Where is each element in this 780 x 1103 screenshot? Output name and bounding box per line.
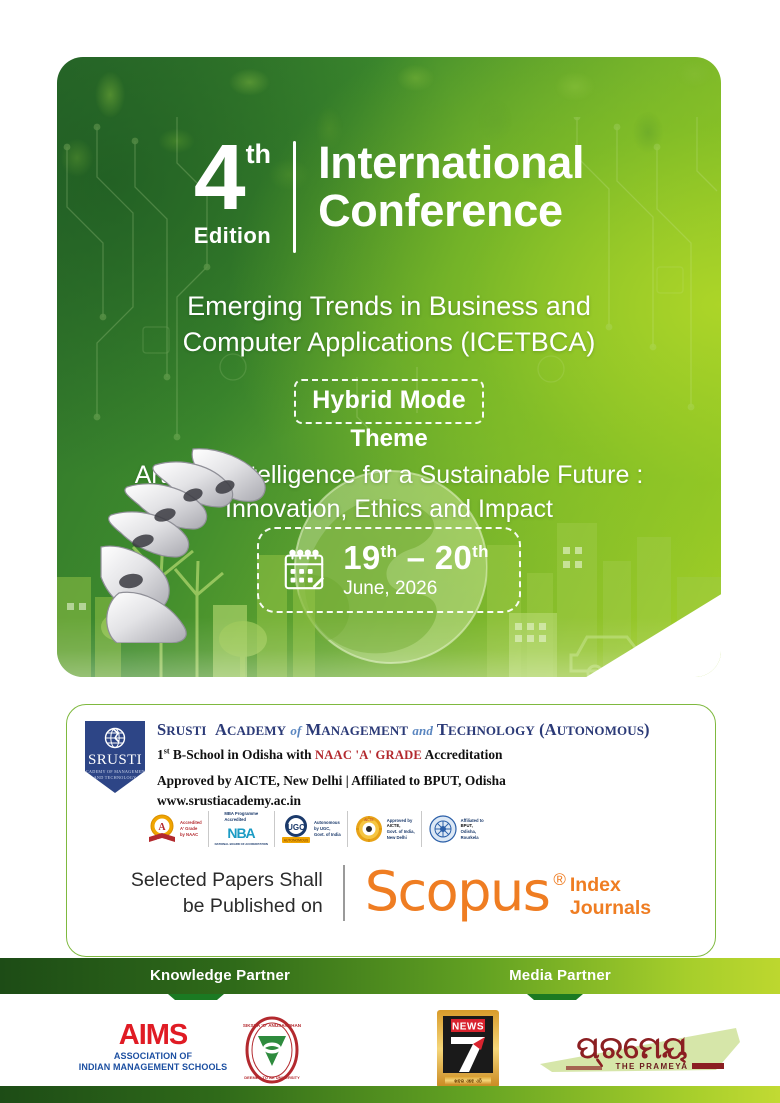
- prameya-logo-icon: ପ୍ରମେୟ THE PRAMEYA: [540, 1022, 740, 1078]
- srusti-crest-logo-icon: SRUSTI ACADEMY OF MANAGEMENT AND TECHNOL…: [85, 721, 145, 793]
- inst-s3: M: [306, 720, 322, 739]
- acc4-l3: Govt. of India,: [387, 829, 415, 835]
- svg-text:AUTONOMOUS: AUTONOMOUS: [284, 839, 309, 843]
- institution-text: SRUSTI ACADEMY of MANAGEMENT and TECHNOL…: [157, 721, 650, 809]
- inst-s4: T: [437, 720, 448, 739]
- acc5-l4: Rourkela: [461, 835, 484, 841]
- scopus-index-line-2: Journals: [570, 897, 651, 920]
- inst-and: and: [412, 723, 433, 738]
- accreditation-badges: A NAAC Accredited A' Grade by NAAC MBA P…: [141, 811, 490, 847]
- scopus-logo: Scopus ® Index Journals: [365, 866, 651, 920]
- aims-wordmark: AIMS: [78, 1022, 228, 1048]
- hero-banner: 4 th Edition International Conference Em…: [57, 57, 721, 677]
- svg-text:UGC: UGC: [287, 823, 305, 832]
- svg-text:THE PRAMEYA: THE PRAMEYA: [616, 1062, 689, 1071]
- inst-s3b: ANAGEMENT: [321, 723, 408, 738]
- knowledge-partner-label: Knowledge Partner: [60, 967, 380, 984]
- svg-text:A: A: [158, 822, 166, 833]
- subtitle-line-1: Emerging Trends in Business and: [57, 289, 721, 325]
- accreditation-caption: Approved by AICTE, Govt. of India, New D…: [387, 818, 415, 841]
- date-day-from: 19: [343, 539, 380, 576]
- institution-name: SRUSTI ACADEMY of MANAGEMENT and TECHNOL…: [157, 721, 650, 739]
- acc4-l4: New Delhi: [387, 835, 415, 841]
- scopus-row: Selected Papers Shall be Published on Sc…: [67, 865, 715, 921]
- mode-badge-wrap: Hybrid Mode: [57, 379, 721, 424]
- accreditation-caption: Autonomous by UGC, Govt. of India: [314, 820, 341, 837]
- edition-word: Edition: [194, 225, 271, 247]
- date-badge: 19th – 20th June, 2026: [257, 527, 521, 613]
- accreditation-item: Affiliated to BPUT, Odisha, Rourkela: [422, 811, 490, 847]
- scopus-caption-line-2: be Published on: [131, 893, 323, 919]
- bschool-rank: 1: [157, 747, 164, 762]
- registered-mark-icon: ®: [553, 870, 566, 890]
- inst-s1: S: [157, 720, 166, 739]
- scopus-caption: Selected Papers Shall be Published on: [131, 867, 323, 920]
- headline-divider: [293, 141, 296, 253]
- partner-band: Knowledge Partner Media Partner: [0, 958, 780, 994]
- institution-row: SRUSTI ACADEMY OF MANAGEMENT AND TECHNOL…: [85, 721, 650, 809]
- ugc-seal-icon: UGC AUTONOMOUS: [281, 813, 311, 845]
- accreditation-line: 1st B-School in Odisha with NAAC 'A' GRA…: [157, 745, 650, 764]
- svg-text:ଖବର ଏବେ ଏଠି: ଖବର ଏବେ ଏଠି: [454, 1079, 482, 1084]
- institution-card: SRUSTI ACADEMY OF MANAGEMENT AND TECHNOL…: [66, 704, 716, 957]
- aims-sub-1: ASSOCIATION OF: [78, 1051, 228, 1062]
- accreditation-item: UGC AUTONOMOUS Autonomous by UGC, Govt. …: [275, 811, 348, 847]
- svg-text:NEWS: NEWS: [452, 1022, 484, 1033]
- scopus-index-journals: Index Journals: [570, 874, 651, 920]
- svg-text:ACADEMY OF MANAGEMENT: ACADEMY OF MANAGEMENT: [85, 769, 145, 774]
- acc-l3: by NAAC: [180, 832, 202, 838]
- aims-logo: AIMS ASSOCIATION OF INDIAN MANAGEMENT SC…: [78, 1022, 228, 1074]
- inst-s2: A: [215, 720, 227, 739]
- approval-line: Approved by AICTE, New Delhi | Affiliate…: [157, 771, 650, 790]
- bottom-accent-strip: [0, 1086, 780, 1103]
- date-sup-from: th: [381, 542, 398, 561]
- date-day-to: 20: [435, 539, 472, 576]
- scopus-wordmark: Scopus: [365, 866, 550, 917]
- svg-text:DEEMED TO BE UNIVERSITY: DEEMED TO BE UNIVERSITY: [244, 1075, 300, 1080]
- date-dash: –: [407, 539, 426, 576]
- subtitle-line-2: Computer Applications (ICETBCA): [57, 325, 721, 361]
- scopus-divider: [343, 865, 345, 921]
- svg-text:SIKSHA 'O' ANUSANDHAN: SIKSHA 'O' ANUSANDHAN: [243, 1023, 302, 1028]
- date-range: 19th – 20th: [343, 541, 489, 576]
- accreditation-item: AICTE Approved by AICTE, Govt. of India,…: [348, 811, 422, 847]
- aicte-seal-icon: AICTE: [354, 813, 384, 845]
- acc3-l3: Govt. of India: [314, 832, 341, 838]
- accreditation-item: A NAAC Accredited A' Grade by NAAC: [141, 811, 209, 847]
- conference-subtitle: Emerging Trends in Business and Computer…: [57, 289, 721, 360]
- svg-text:AND TECHNOLOGY: AND TECHNOLOGY: [94, 775, 137, 780]
- edition-block: 4 th Edition: [194, 135, 289, 247]
- bput-seal-icon: [428, 813, 458, 845]
- news7-logo-icon: NEWS ଖବର ଏବେ ଏଠି: [437, 1010, 499, 1088]
- soa-university-logo-icon: SIKSHA 'O' ANUSANDHAN DEEMED TO BE UNIVE…: [238, 1016, 306, 1084]
- inst-s5c: ): [644, 720, 650, 739]
- nba-logo-icon: NBA: [221, 823, 261, 843]
- inst-s1b: RUSTI: [166, 723, 206, 738]
- aims-sub-2: INDIAN MANAGEMENT SCHOOLS: [78, 1062, 228, 1073]
- date-text: 19th – 20th June, 2026: [343, 541, 489, 599]
- bschool-mid: B-School in Odisha with: [169, 747, 314, 762]
- accreditation-caption: Affiliated to BPUT, Odisha, Rourkela: [461, 818, 484, 841]
- nba-caption-bottom: NATIONAL BOARD OF ACCREDITATION: [215, 843, 268, 847]
- svg-text:NAAC: NAAC: [157, 839, 167, 843]
- date-month-year: June, 2026: [343, 579, 489, 599]
- scopus-caption-line-1: Selected Papers Shall: [131, 867, 323, 893]
- inst-s5b: UTONOMOUS: [557, 723, 644, 738]
- media-partner-label: Media Partner: [400, 967, 720, 984]
- inst-s2b: CADEMY: [227, 723, 286, 738]
- hybrid-mode-badge: Hybrid Mode: [294, 379, 484, 424]
- conference-title: International Conference: [318, 135, 584, 234]
- accreditation-item: MBA Programme Accredited NBA NATIONAL BO…: [209, 811, 275, 847]
- title-line-1: International: [318, 139, 584, 187]
- accreditation-caption: Accredited A' Grade by NAAC: [180, 820, 202, 837]
- date-sup-to: th: [472, 542, 489, 561]
- inst-s5: (A: [539, 720, 557, 739]
- institution-website[interactable]: www.srustiacademy.ac.in: [157, 793, 650, 809]
- svg-text:NBA: NBA: [228, 825, 256, 841]
- nba-caption-top: MBA Programme Accredited: [224, 811, 258, 822]
- conference-poster: 4 th Edition International Conference Em…: [0, 0, 780, 1103]
- edition-number: 4: [194, 135, 244, 221]
- naac-grade-text: NAAC 'A' GRADE: [315, 748, 422, 762]
- robot-hand-icon: [97, 443, 287, 643]
- svg-text:SRUSTI: SRUSTI: [88, 752, 142, 768]
- naac-seal-icon: A NAAC: [147, 813, 177, 845]
- headline-row: 4 th Edition International Conference: [57, 135, 721, 253]
- partner-logos: AIMS ASSOCIATION OF INDIAN MANAGEMENT SC…: [0, 1000, 780, 1080]
- bschool-post: Accreditation: [422, 747, 502, 762]
- inst-s4b: ECHNOLOGY: [448, 723, 535, 738]
- aims-subtitle: ASSOCIATION OF INDIAN MANAGEMENT SCHOOLS: [78, 1051, 228, 1074]
- edition-ordinal: th: [246, 141, 271, 168]
- title-line-2: Conference: [318, 187, 584, 235]
- calendar-icon: [281, 547, 327, 593]
- inst-of: of: [290, 723, 301, 738]
- scopus-index-line-1: Index: [570, 874, 651, 897]
